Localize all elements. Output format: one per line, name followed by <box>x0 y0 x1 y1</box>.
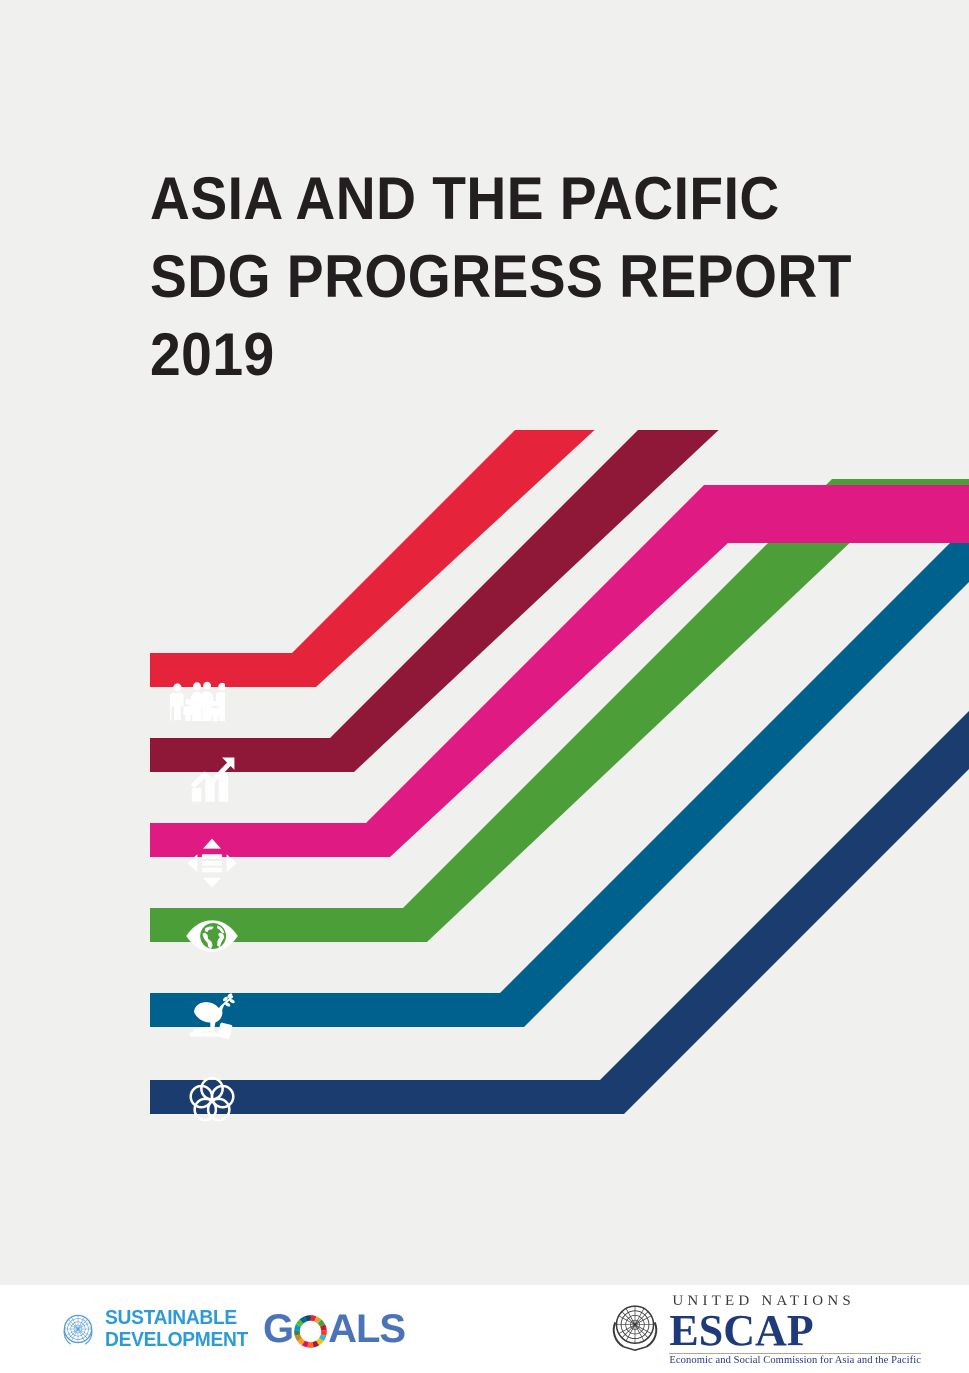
equality-arrows-icon <box>184 833 240 889</box>
sdg-word-development: DEVELOPMENT <box>105 1330 248 1350</box>
title-line-3: 2019 <box>150 316 849 394</box>
family-group-icon <box>169 675 225 731</box>
un-emblem-icon <box>58 1309 98 1349</box>
un-emblem-icon <box>606 1298 664 1356</box>
interlocking-circles-icon <box>184 1072 240 1128</box>
escap-logo: UNITED NATIONS ESCAP Economic and Social… <box>606 1293 921 1365</box>
goals-letter-g: G <box>263 1307 293 1352</box>
footer: SUSTAINABLE DEVELOPMENT G <box>0 1285 969 1373</box>
eye-globe-icon <box>184 908 240 964</box>
dove-gavel-icon <box>184 990 240 1046</box>
sdg-wordmark: SUSTAINABLE DEVELOPMENT <box>105 1308 254 1350</box>
growth-bar-chart-icon <box>184 753 240 809</box>
escap-acronym: ESCAP <box>669 1310 921 1351</box>
escap-wordmark: UNITED NATIONS ESCAP Economic and Social… <box>669 1293 921 1366</box>
sdg-goals-wordmark: G <box>263 1307 405 1352</box>
sdg-word-sustainable: SUSTAINABLE <box>105 1308 248 1328</box>
title-line-1: ASIA AND THE PACIFIC <box>150 160 849 238</box>
escap-tagline: Economic and Social Commission for Asia … <box>669 1355 921 1366</box>
title-line-2: SDG PROGRESS REPORT <box>150 238 849 316</box>
sdg-logo: SUSTAINABLE DEVELOPMENT G <box>58 1302 405 1356</box>
goals-letters-als: ALS <box>328 1307 405 1352</box>
escap-divider <box>669 1353 921 1354</box>
page-title: ASIA AND THE PACIFIC SDG PROGRESS REPORT… <box>150 160 910 394</box>
sdg-color-wheel-icon <box>294 1313 327 1346</box>
report-cover: ASIA AND THE PACIFIC SDG PROGRESS REPORT… <box>0 0 969 1373</box>
ribbon-graphic <box>0 430 969 1170</box>
